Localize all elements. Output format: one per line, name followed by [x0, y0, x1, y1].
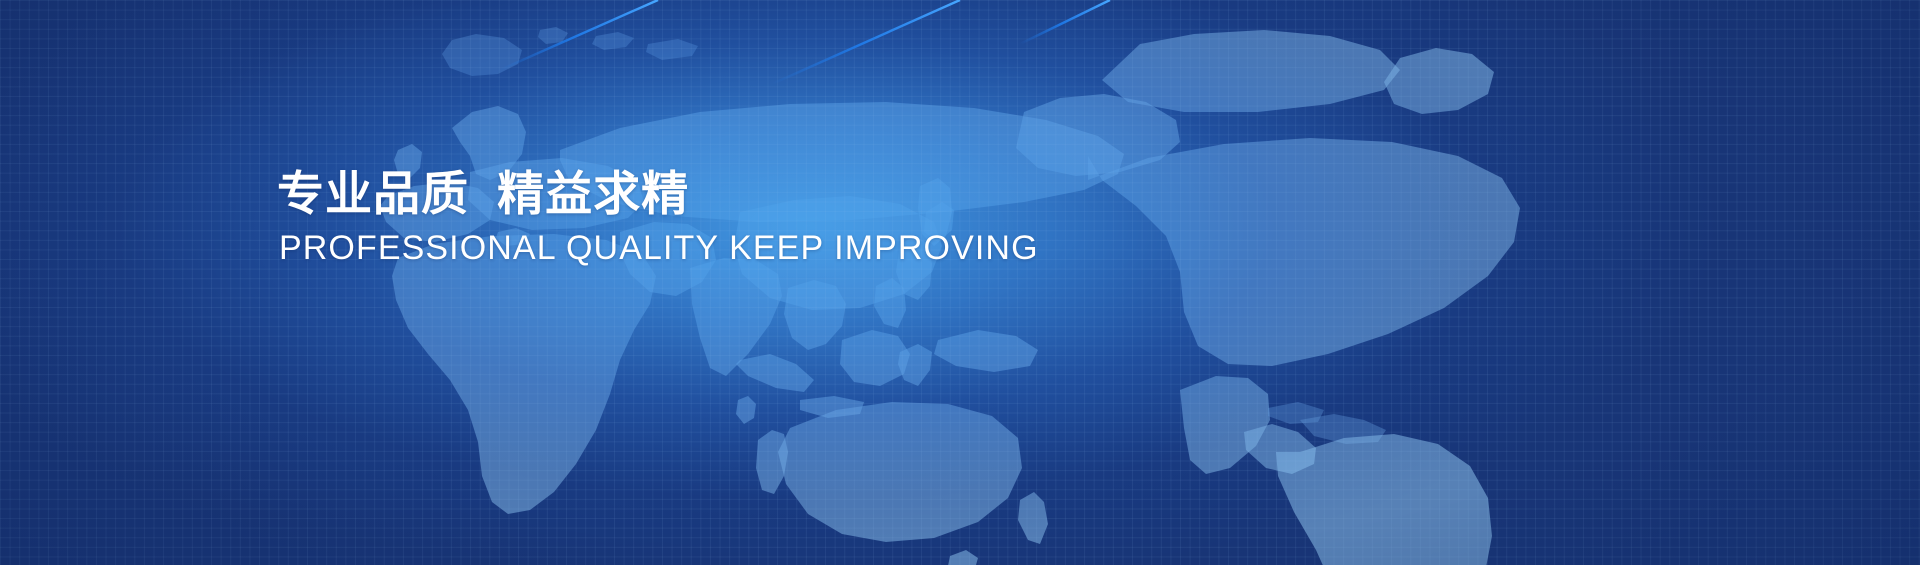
- banner-subheadline-english: PROFESSIONAL QUALITY KEEP IMPROVING: [279, 229, 1039, 268]
- banner-copy-block: 专业品质 精益求精 PROFESSIONAL QUALITY KEEP IMPR…: [277, 168, 1039, 268]
- hero-banner: 专业品质 精益求精 PROFESSIONAL QUALITY KEEP IMPR…: [0, 0, 1920, 565]
- background-vignette: [0, 0, 1920, 565]
- banner-headline-chinese: 专业品质 精益求精: [277, 168, 1039, 221]
